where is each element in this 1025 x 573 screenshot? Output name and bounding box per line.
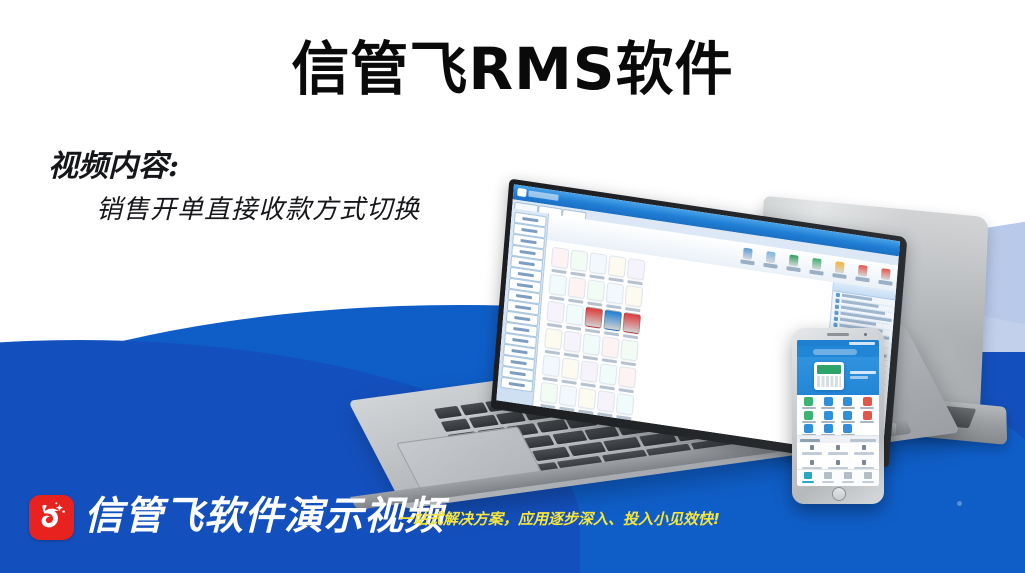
module-icon[interactable] <box>586 279 605 308</box>
app-logo-icon <box>517 188 527 197</box>
module-icon[interactable] <box>579 360 598 389</box>
phone-screen <box>797 340 879 486</box>
phone-search-field[interactable] <box>813 349 857 355</box>
module-icon[interactable] <box>588 252 607 281</box>
module-icon[interactable] <box>607 255 626 284</box>
phone-module-icon[interactable] <box>838 411 857 424</box>
toolbar-button-label <box>740 259 754 265</box>
toolbar-button-icon[interactable] <box>766 251 776 263</box>
module-icon[interactable] <box>565 303 584 332</box>
phone-module-icon[interactable] <box>799 397 818 410</box>
toolbar-button-label <box>763 263 777 269</box>
keyboard-key[interactable] <box>468 415 498 428</box>
module-icon[interactable] <box>567 276 586 305</box>
phone-module-icon[interactable] <box>858 397 877 410</box>
brand-name: 信管飞软件演示视频 <box>84 494 444 540</box>
toolbar-button-label <box>878 280 892 286</box>
promo-slide: 信管飞RMS软件 视频内容: 销售开单直接收款方式切换 信管飞软件演示视频 一站… <box>0 0 1025 573</box>
module-icon[interactable] <box>577 387 596 416</box>
phone-module-grid[interactable] <box>797 395 879 435</box>
phone-app-navbar <box>797 346 879 357</box>
phone-module-icon[interactable] <box>858 411 877 424</box>
module-icon[interactable] <box>550 247 569 276</box>
toolbar-button-label <box>786 266 800 272</box>
module-icon[interactable] <box>541 355 560 384</box>
module-icon[interactable] <box>620 339 639 368</box>
keyboard-key[interactable] <box>434 406 462 419</box>
module-icon[interactable] <box>622 312 641 341</box>
module-icon[interactable] <box>584 306 603 335</box>
video-content-value: 销售开单直接收款方式切换 <box>96 193 420 227</box>
banner-headline <box>850 371 876 374</box>
toolbar-button-label <box>855 276 869 282</box>
phone-module-icon[interactable] <box>799 411 818 424</box>
toolbar-button-icon[interactable] <box>881 268 891 280</box>
toolbar-button-icon[interactable] <box>812 258 822 270</box>
module-icon[interactable] <box>569 249 588 278</box>
phone-stat-cell <box>799 445 825 459</box>
toolbar-button-icon[interactable] <box>789 254 799 266</box>
toolbar-button-icon[interactable] <box>743 248 753 260</box>
phone-banner <box>797 357 879 395</box>
module-icon[interactable] <box>544 328 563 357</box>
section-filter[interactable] <box>850 439 876 442</box>
xinguanfei-logo-icon <box>29 495 74 540</box>
toolbar-button-icon[interactable] <box>858 265 868 277</box>
page-title: 信管飞RMS软件 <box>0 34 1025 104</box>
phone-camera-icon <box>864 333 867 336</box>
brand-tagline: 一站式解决方案，应用逐步深入、投入小见效快! <box>398 508 720 530</box>
module-icon[interactable] <box>596 390 615 419</box>
video-content-label: 视频内容: <box>48 148 179 186</box>
keyboard-key[interactable] <box>460 402 488 415</box>
module-icon[interactable] <box>548 274 567 303</box>
toolbar-button-label <box>832 273 846 279</box>
banner-device-image <box>814 362 844 390</box>
keyboard-key[interactable] <box>552 430 587 444</box>
keyboard-key[interactable] <box>536 419 568 433</box>
module-icon[interactable] <box>539 382 558 411</box>
module-icon[interactable] <box>615 393 634 422</box>
module-icon[interactable] <box>582 333 601 362</box>
banner-subline <box>850 376 868 379</box>
module-icon[interactable] <box>624 285 643 314</box>
phone-stat-cell <box>825 445 851 459</box>
brand-banner: 信管飞软件演示视频 一站式解决方案，应用逐步深入、投入小见效快! <box>0 481 1025 573</box>
phone-earpiece <box>827 333 849 336</box>
module-icon[interactable] <box>598 363 617 392</box>
keyboard-key[interactable] <box>568 442 606 457</box>
section-title <box>800 439 820 442</box>
module-icon[interactable] <box>626 258 645 287</box>
module-icon[interactable] <box>605 282 624 311</box>
module-icon[interactable] <box>601 336 620 365</box>
module-icon[interactable] <box>563 330 582 359</box>
phone-stat-cell <box>851 445 877 459</box>
signal-battery-icons <box>849 342 875 345</box>
module-icon[interactable] <box>603 309 622 338</box>
keyboard-key[interactable] <box>532 447 570 462</box>
module-icon[interactable] <box>558 384 577 413</box>
keyboard-key[interactable] <box>603 437 641 452</box>
phone-module-icon[interactable] <box>819 397 838 410</box>
module-icon[interactable] <box>546 301 565 330</box>
banner-device-screen <box>817 365 841 374</box>
keyboard-key[interactable] <box>585 426 620 440</box>
module-icon[interactable] <box>560 357 579 386</box>
module-icon[interactable] <box>617 366 636 395</box>
keyboard-key[interactable] <box>441 419 471 432</box>
app-title-text <box>528 191 558 201</box>
phone-module-icon[interactable] <box>819 411 838 424</box>
smartphone <box>792 328 884 504</box>
toolbar-button-icon[interactable] <box>835 261 845 273</box>
banner-device-keys <box>817 376 841 387</box>
module-icon-grid[interactable] <box>539 247 829 446</box>
toolbar-button-label <box>809 269 823 275</box>
phone-module-icon[interactable] <box>838 397 857 410</box>
